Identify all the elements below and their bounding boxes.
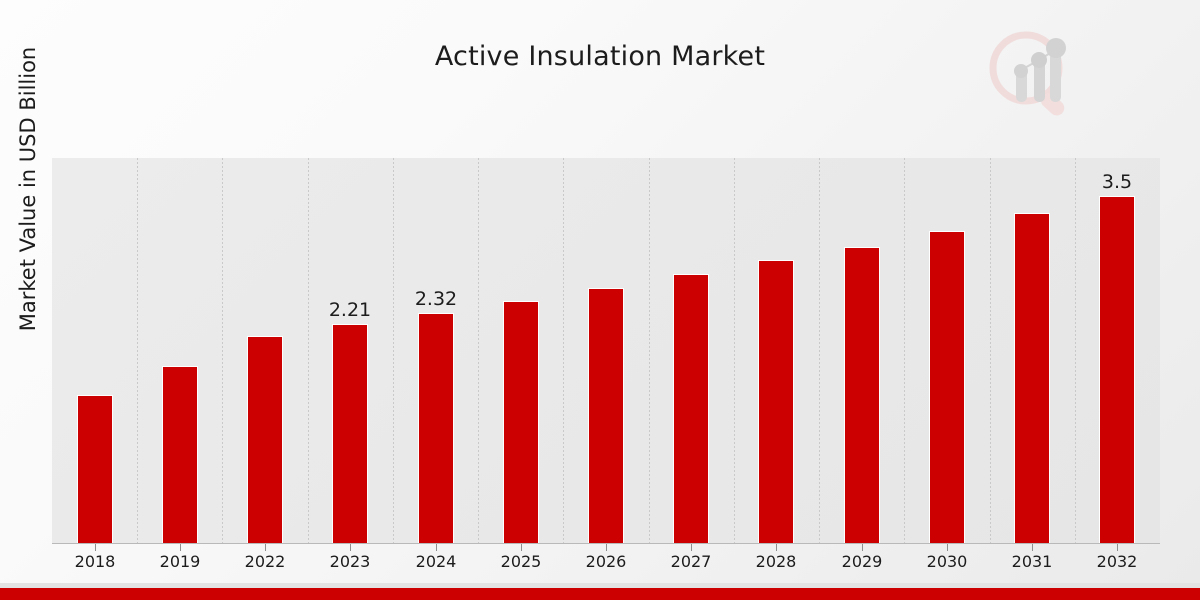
x-axis-tick [1117, 544, 1118, 551]
bar[interactable] [1014, 213, 1050, 544]
bar[interactable] [503, 301, 539, 544]
x-axis-tick [691, 544, 692, 551]
x-axis-tick [862, 544, 863, 551]
bar[interactable] [844, 247, 880, 544]
x-axis-tick-label: 2025 [491, 552, 551, 572]
bar[interactable] [162, 366, 198, 544]
x-axis-tick-label: 2030 [917, 552, 977, 572]
footer-accent-bar [0, 588, 1200, 600]
chart-page: Active Insulation Market Market Value in… [0, 0, 1200, 600]
bar[interactable] [247, 336, 283, 544]
gridline [1075, 158, 1076, 544]
x-axis-tick [947, 544, 948, 551]
bar[interactable] [1099, 196, 1135, 544]
x-axis-tick [350, 544, 351, 551]
gridline [649, 158, 650, 544]
bar-value-label: 3.5 [1077, 171, 1157, 193]
x-axis-tick [776, 544, 777, 551]
bar[interactable] [929, 231, 965, 544]
x-axis-tick-label: 2026 [576, 552, 636, 572]
bar[interactable] [673, 274, 709, 544]
bar-chart-icon [1014, 38, 1066, 102]
x-axis-tick-label: 2018 [65, 552, 125, 572]
bar[interactable] [758, 260, 794, 544]
x-axis-tick-label: 2031 [1002, 552, 1062, 572]
x-axis-tick [521, 544, 522, 551]
x-axis-tick-label: 2032 [1087, 552, 1147, 572]
gridline [904, 158, 905, 544]
gridline [222, 158, 223, 544]
x-axis-tick [436, 544, 437, 551]
bar[interactable] [77, 395, 113, 544]
bar[interactable] [418, 313, 454, 544]
x-axis-tick [606, 544, 607, 551]
x-axis-tick-label: 2023 [320, 552, 380, 572]
gridline [990, 158, 991, 544]
x-axis-tick [265, 544, 266, 551]
gridline [478, 158, 479, 544]
gridline [308, 158, 309, 544]
gridline [393, 158, 394, 544]
y-axis-label: Market Value in USD Billion [16, 0, 44, 399]
bar[interactable] [332, 324, 368, 544]
gridline [137, 158, 138, 544]
x-axis-tick [95, 544, 96, 551]
x-axis-tick-label: 2019 [150, 552, 210, 572]
gridline [819, 158, 820, 544]
gridline [563, 158, 564, 544]
x-axis-tick [1032, 544, 1033, 551]
x-axis-tick-label: 2027 [661, 552, 721, 572]
market-research-magnifier-logo [978, 22, 1084, 126]
gridline [734, 158, 735, 544]
x-axis-tick-label: 2022 [235, 552, 295, 572]
plot-area [52, 158, 1160, 544]
bar[interactable] [588, 288, 624, 544]
x-axis-tick-label: 2024 [406, 552, 466, 572]
bar-value-label: 2.32 [396, 288, 476, 310]
bar-value-label: 2.21 [310, 299, 390, 321]
x-axis-tick-label: 2029 [832, 552, 892, 572]
x-axis-tick-label: 2028 [746, 552, 806, 572]
x-axis-tick [180, 544, 181, 551]
